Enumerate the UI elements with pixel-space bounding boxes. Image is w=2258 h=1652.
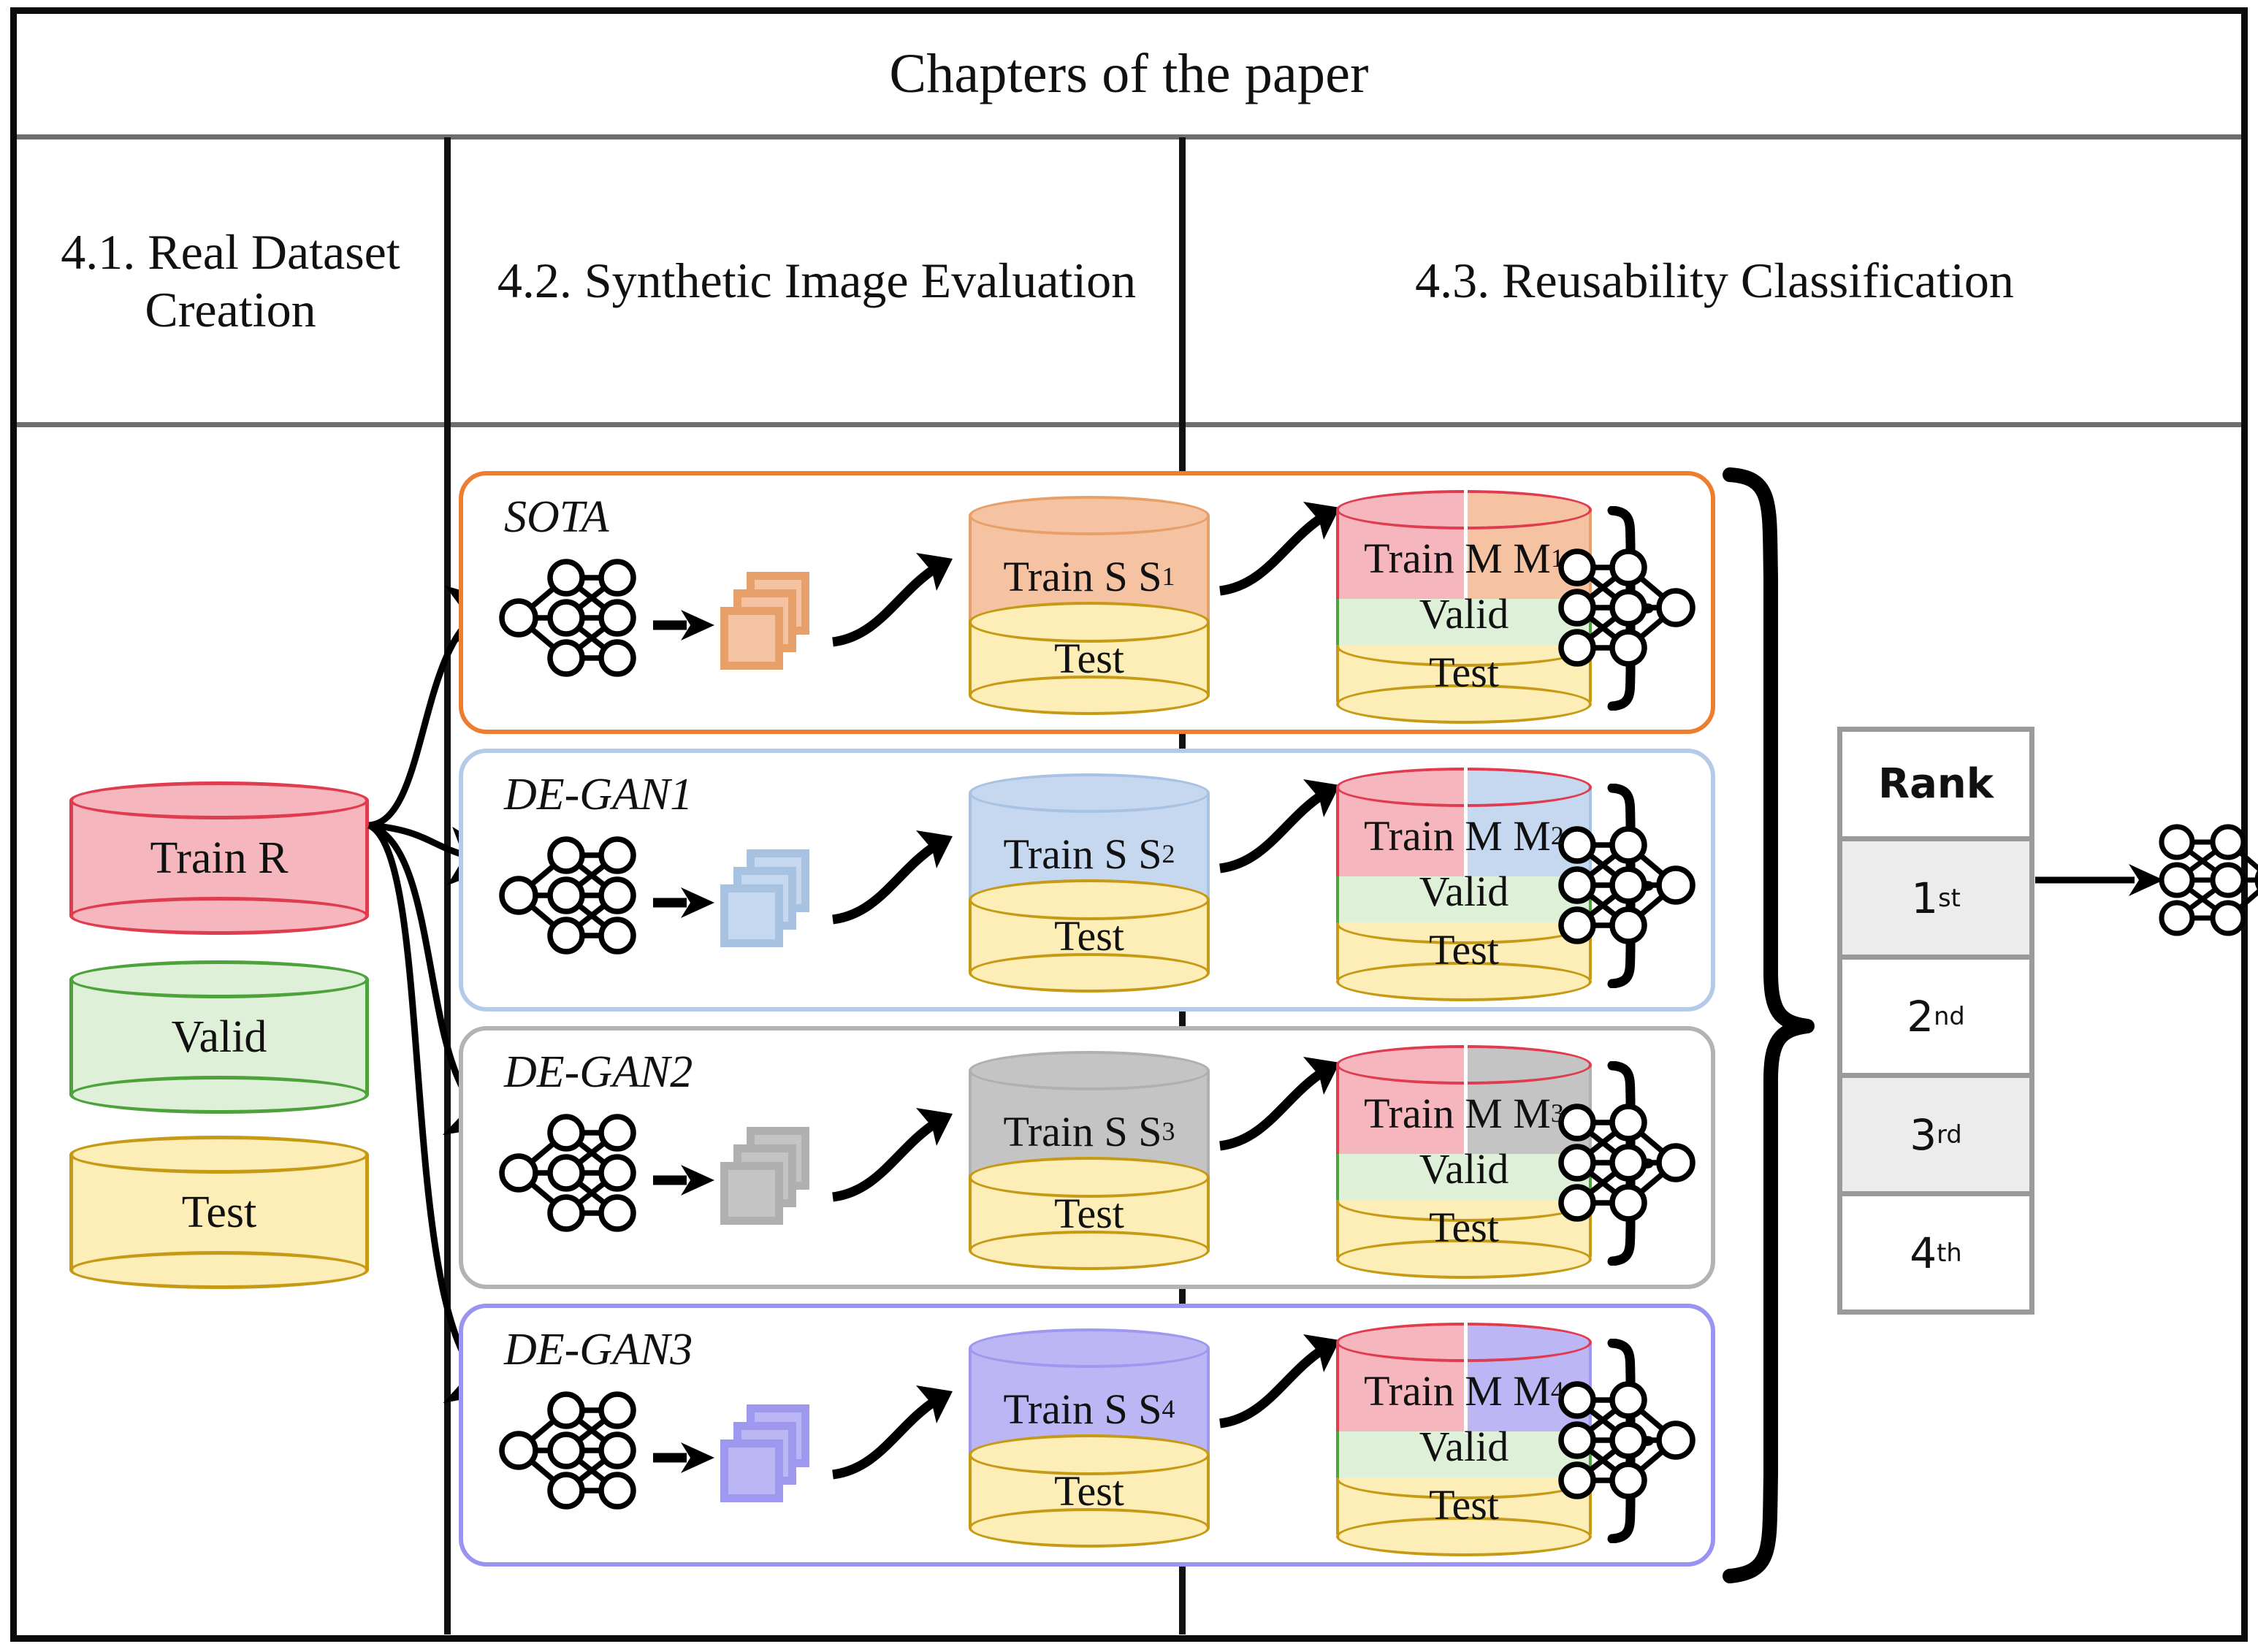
synthetic-train-label: Train S S2 [969, 819, 1210, 889]
generate-arrow [652, 1439, 717, 1480]
mixed-valid-label: Valid [1336, 861, 1592, 921]
mixed-train-label: Train M M3 [1336, 1080, 1592, 1146]
synthetic-test-label: Test [969, 1184, 1210, 1242]
generator-nn-icon [497, 833, 643, 957]
rank-row-4th[interactable]: 4th [1842, 1196, 2029, 1309]
to-mixed-dataset-arrow [1216, 1330, 1347, 1443]
rank-to-model-arrow [2032, 851, 2167, 909]
mixed-valid-label: Valid [1336, 1416, 1592, 1476]
model-row-de-gan3[interactable]: DE-GAN3Train S S4TestTrain M M4ValidTest [459, 1304, 1715, 1567]
selected-model-nn-icon [2155, 822, 2258, 938]
real-cylinder-label: Test [69, 1136, 369, 1289]
mixed-train-label: Train M M2 [1336, 803, 1592, 868]
synthetic-train-label: Train S S1 [969, 541, 1210, 611]
synthetic-dataset-cylinder: Train S S4Test [969, 1328, 1210, 1548]
model-row-tag: DE-GAN1 [504, 769, 693, 821]
synthetic-images-icon [720, 849, 808, 937]
mixed-test-label: Test [1336, 919, 1592, 979]
rank-row-3rd[interactable]: 3rd [1842, 1078, 2029, 1196]
mixed-dataset-cylinder: Train M M4ValidTest [1336, 1323, 1592, 1556]
column-header-reusability: 4.3. Reusability Classification [1188, 139, 2241, 422]
synthetic-dataset-cylinder: Train S S1Test [969, 496, 1210, 715]
mixed-test-label: Test [1336, 1475, 1592, 1534]
mixed-train-label: Train M M4 [1336, 1358, 1592, 1423]
real-cylinder-label: Train R [69, 781, 369, 935]
group-brace-icon [1721, 467, 1816, 1585]
generate-arrow [652, 884, 717, 925]
header-rule-bottom [17, 422, 2241, 427]
generate-arrow [652, 607, 717, 647]
to-synthetic-dataset-arrow [828, 826, 960, 939]
real-cylinder-valid: Valid [69, 960, 369, 1114]
to-mixed-dataset-arrow [1216, 497, 1347, 611]
rank-row-1st[interactable]: 1st [1842, 841, 2029, 960]
model-row-tag: SOTA [504, 492, 609, 543]
mixed-dataset-cylinder: Train M M2ValidTest [1336, 768, 1592, 1001]
column-header-real-dataset: 4.1. Real Dataset Creation [17, 139, 444, 422]
rank-row-2nd[interactable]: 2nd [1842, 960, 2029, 1078]
rank-table-body: Rank1st2nd3rd4th [1842, 732, 2029, 1309]
synthetic-train-label: Train S S4 [969, 1374, 1210, 1444]
synthetic-images-icon [720, 1404, 808, 1492]
generator-nn-icon [497, 1111, 643, 1235]
rank-table[interactable]: Rank1st2nd3rd4th [1837, 727, 2034, 1315]
real-cylinder-test: Test [69, 1136, 369, 1289]
model-row-tag: DE-GAN3 [504, 1324, 693, 1376]
mixed-train-label: Train M M1 [1336, 525, 1592, 591]
mixed-dataset-cylinder: Train M M3ValidTest [1336, 1045, 1592, 1279]
figure-root: Chapters of the paper 4.1. Real Dataset … [0, 0, 2258, 1652]
to-mixed-dataset-arrow [1216, 1052, 1347, 1166]
model-row-tag: DE-GAN2 [504, 1047, 693, 1098]
synthetic-images-icon [720, 1127, 808, 1215]
synthetic-test-label: Test [969, 1461, 1210, 1520]
real-cylinder-label: Valid [69, 960, 369, 1114]
mixed-valid-label: Valid [1336, 584, 1592, 643]
to-synthetic-dataset-arrow [828, 548, 960, 662]
to-synthetic-dataset-arrow [828, 1104, 960, 1217]
model-row-de-gan1[interactable]: DE-GAN1Train S S2TestTrain M M2ValidTest [459, 749, 1715, 1012]
to-mixed-dataset-arrow [1216, 775, 1347, 888]
synthetic-train-label: Train S S3 [969, 1096, 1210, 1166]
synthetic-dataset-cylinder: Train S S3Test [969, 1051, 1210, 1270]
mixed-test-label: Test [1336, 1197, 1592, 1257]
synthetic-dataset-cylinder: Train S S2Test [969, 773, 1210, 993]
mixed-valid-label: Valid [1336, 1139, 1592, 1198]
synthetic-test-label: Test [969, 629, 1210, 687]
generate-arrow [652, 1162, 717, 1202]
mixed-test-label: Test [1336, 642, 1592, 702]
to-synthetic-dataset-arrow [828, 1381, 960, 1494]
model-row-de-gan2[interactable]: DE-GAN2Train S S3TestTrain M M3ValidTest [459, 1026, 1715, 1289]
rank-table-header: Rank [1842, 732, 2029, 841]
synthetic-test-label: Test [969, 906, 1210, 965]
synthetic-images-icon [720, 572, 808, 659]
real-cylinder-train-r: Train R [69, 781, 369, 935]
generator-nn-icon [497, 1388, 643, 1513]
figure-title: Chapters of the paper [17, 14, 2241, 134]
mixed-dataset-cylinder: Train M M1ValidTest [1336, 490, 1592, 724]
generator-nn-icon [497, 556, 643, 680]
header-rule-top [17, 134, 2241, 139]
model-row-sota[interactable]: SOTATrain S S1TestTrain M M1ValidTest [459, 471, 1715, 734]
column-header-synthetic-eval: 4.2. Synthetic Image Evaluation [454, 139, 1179, 422]
